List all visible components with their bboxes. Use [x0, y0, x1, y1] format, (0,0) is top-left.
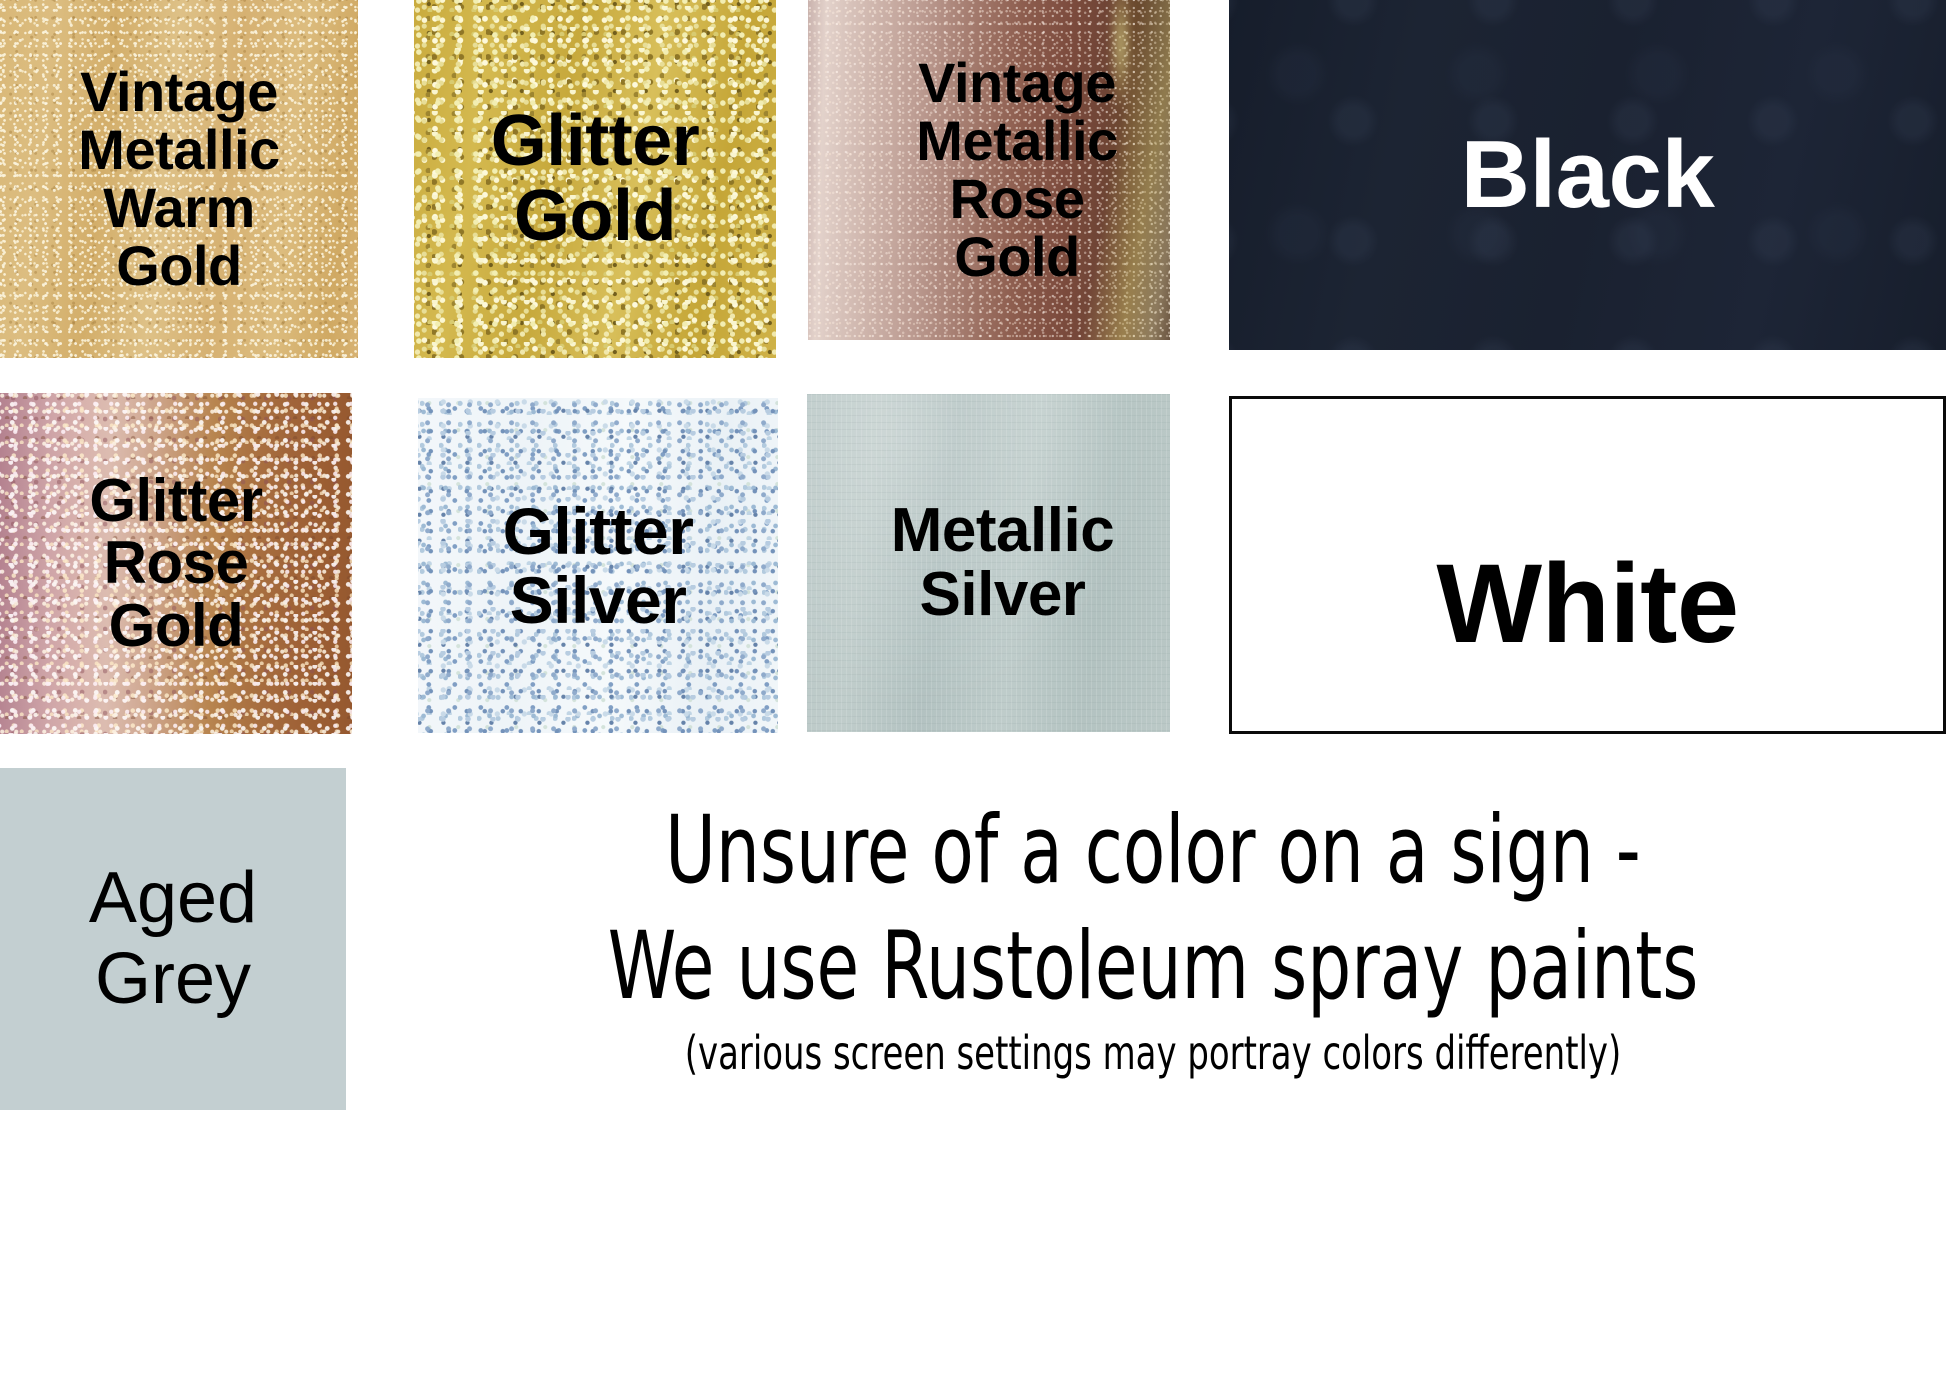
swatch-glitter-silver[interactable]: Glitter Silver [418, 398, 778, 733]
swatch-label-white: White [1436, 468, 1738, 662]
swatch-label-vintage-metallic-warm-gold: Vintage Metallic Warm Gold [78, 63, 279, 296]
swatch-label-metallic-silver: Metallic Silver [863, 499, 1114, 628]
notice-line-screen-settings-disclaimer: (various screen settings may portray col… [685, 1030, 1621, 1076]
swatch-label-aged-grey: Aged Grey [89, 858, 257, 1019]
notice-line-unsure-of-color: Unsure of a color on a sign - [665, 804, 1641, 898]
swatch-white[interactable]: White [1229, 396, 1946, 734]
swatch-black[interactable]: Black [1229, 0, 1946, 350]
swatch-vintage-metallic-warm-gold[interactable]: Vintage Metallic Warm Gold [0, 0, 358, 358]
swatch-label-glitter-gold: Glitter Gold [491, 104, 700, 254]
paint-brand-notice: Unsure of a color on a sign - We use Rus… [360, 798, 1946, 1387]
swatch-label-vintage-metallic-rose-gold: Vintage Metallic Rose Gold [860, 54, 1117, 287]
swatch-glitter-rose-gold[interactable]: Glitter Rose Gold [0, 393, 352, 734]
swatch-label-glitter-silver: Glitter Silver [503, 497, 694, 634]
swatch-metallic-silver[interactable]: Metallic Silver [807, 394, 1170, 732]
swatch-label-black: Black [1461, 125, 1715, 225]
swatch-glitter-gold[interactable]: Glitter Gold [414, 0, 776, 358]
swatch-vintage-metallic-rose-gold[interactable]: Vintage Metallic Rose Gold [808, 0, 1170, 340]
notice-line-rustoleum-brand: We use Rustoleum spray paints [608, 920, 1699, 1014]
swatch-chart-root: Vintage Metallic Warm Gold Glitter Gold … [0, 0, 1946, 1387]
swatch-aged-grey[interactable]: Aged Grey [0, 768, 346, 1110]
swatch-label-glitter-rose-gold: Glitter Rose Gold [89, 470, 262, 657]
